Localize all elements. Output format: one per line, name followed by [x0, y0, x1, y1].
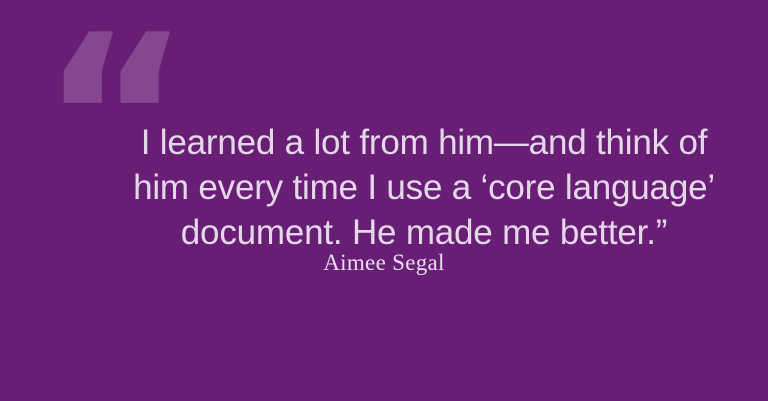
quote-line: I learned a lot from him—and think of	[124, 120, 724, 165]
quote-text: I learned a lot from him—and think of hi…	[124, 120, 724, 255]
quote-line: him every time I use a ‘core language’	[124, 165, 724, 210]
quote-attribution: Aimee Segal	[84, 249, 684, 277]
pull-quote-card: “ I learned a lot from him—and think of …	[0, 0, 768, 401]
